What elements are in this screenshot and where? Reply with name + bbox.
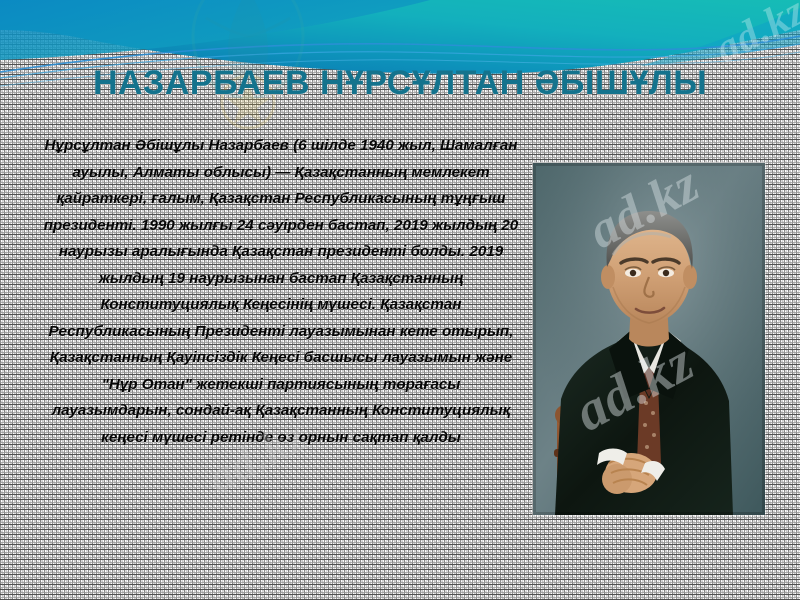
portrait-photo (533, 163, 765, 515)
page-title: НАЗАРБАЕВ НҰРСҰЛТАН ӘБІШҰЛЫ (0, 64, 800, 103)
body-paragraph: Нұрсұлтан Әбішұлы Назарбаев (6 шілде 194… (40, 133, 522, 451)
presentation-slide: НАЗАРБАЕВ НҰРСҰЛТАН ӘБІШҰЛЫ Нұрсұлтан Әб… (0, 0, 800, 600)
